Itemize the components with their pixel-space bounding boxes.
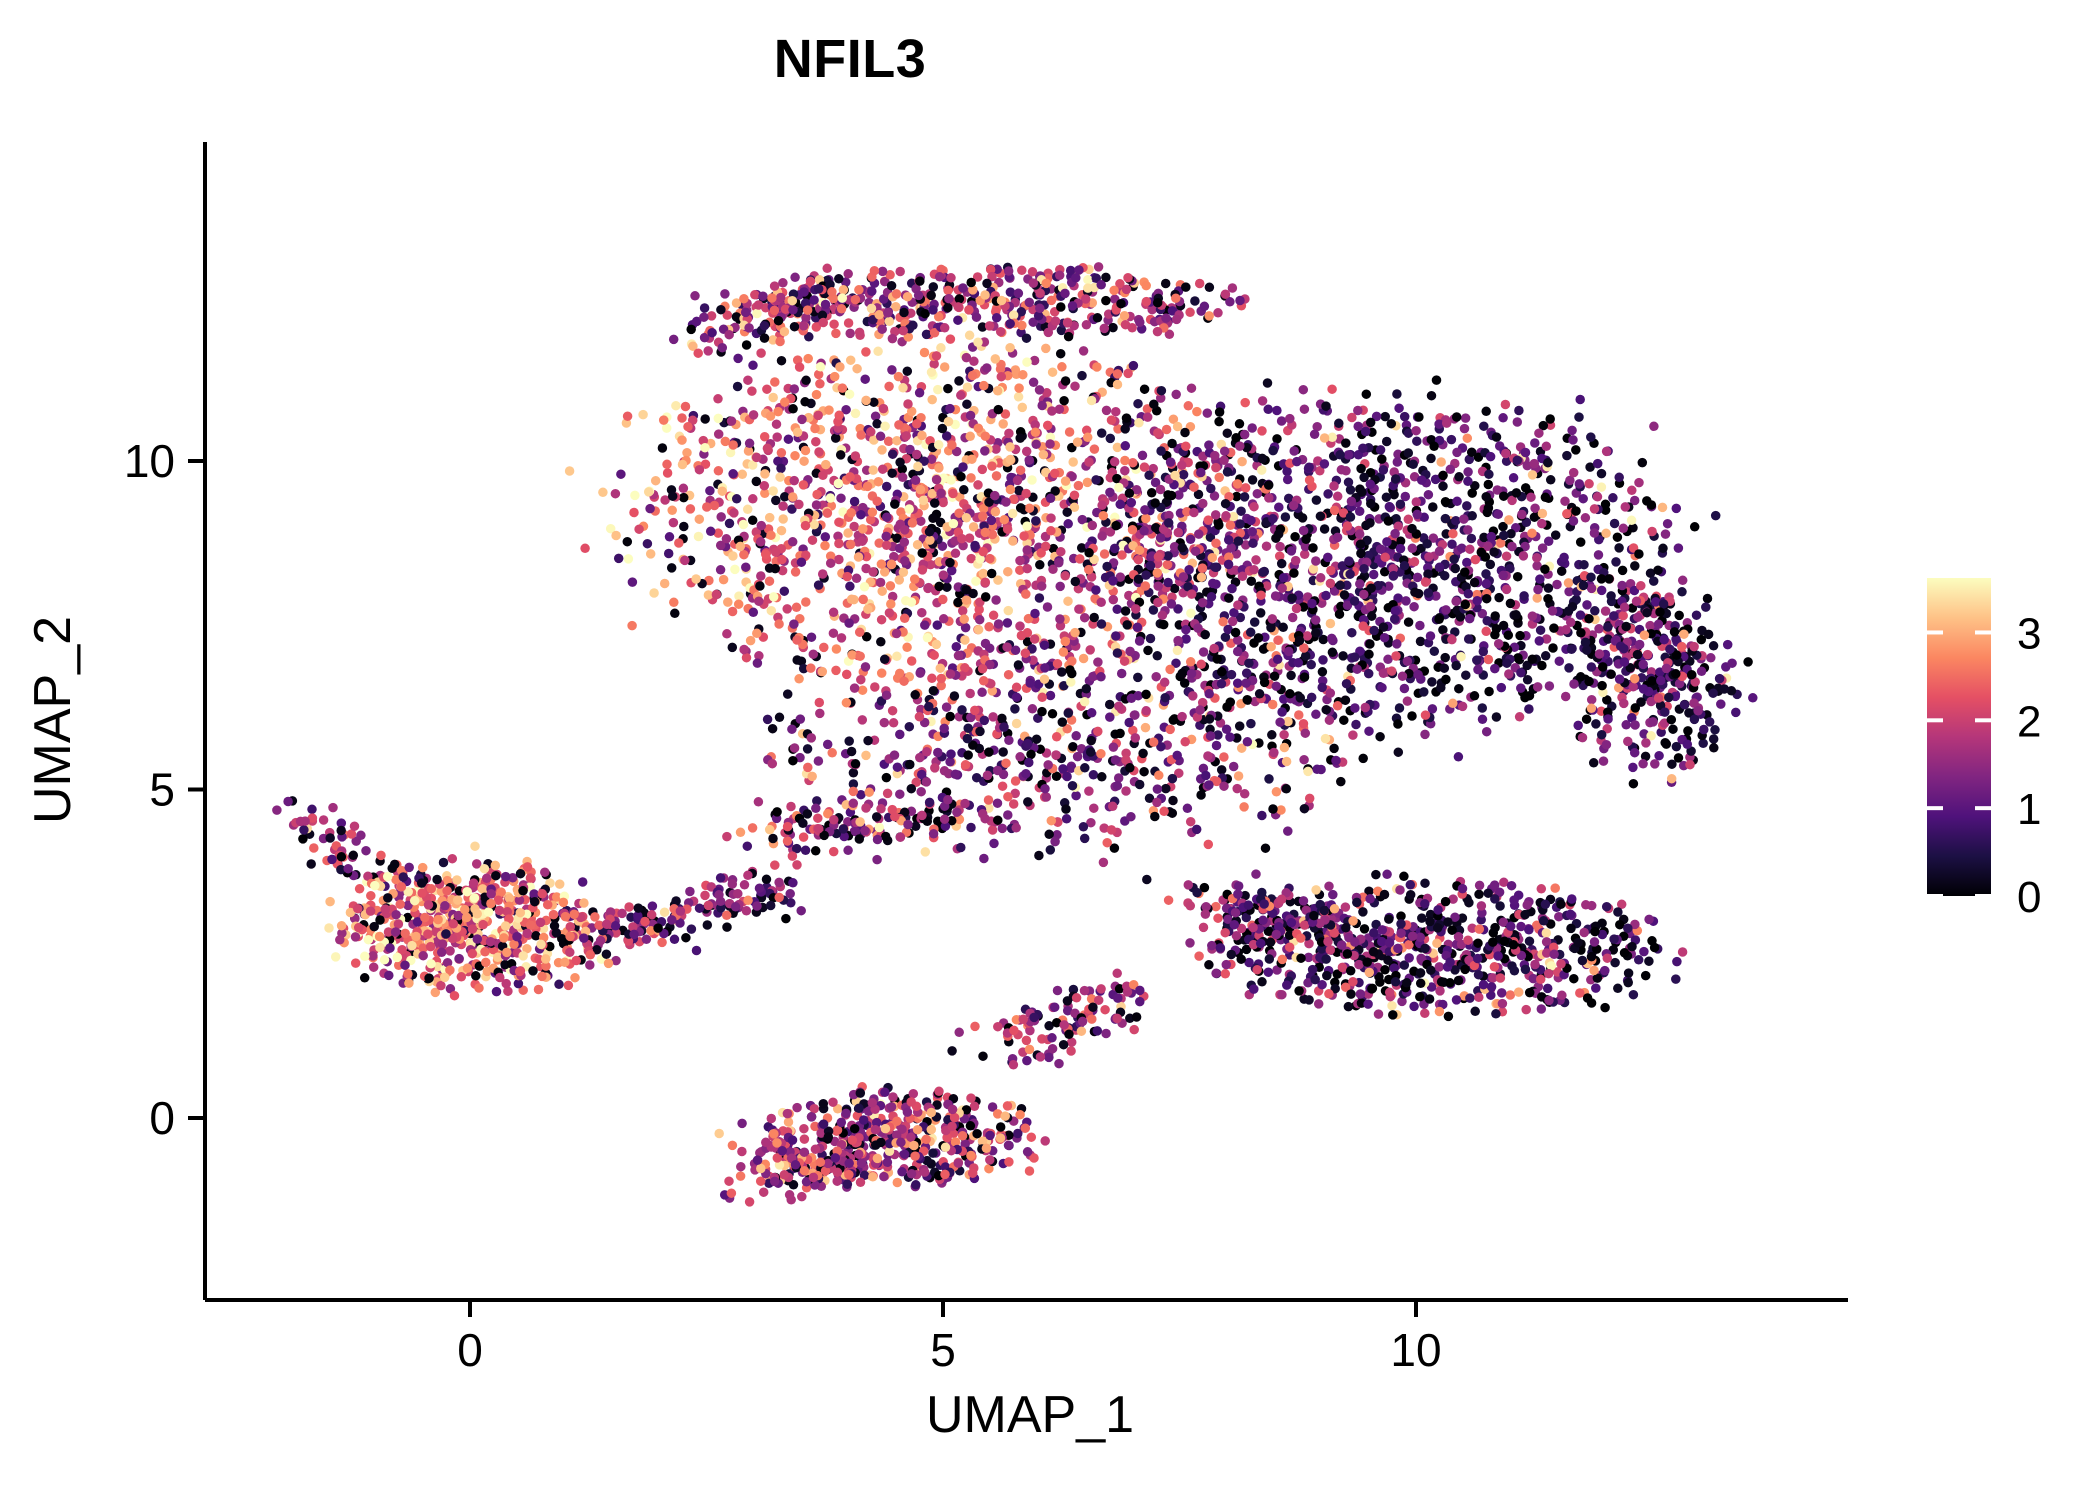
data-point — [775, 472, 785, 482]
data-point — [783, 836, 793, 846]
data-point — [1420, 878, 1430, 888]
data-point — [855, 627, 865, 637]
data-point — [1527, 528, 1537, 538]
data-point — [984, 622, 994, 632]
data-point — [307, 805, 317, 815]
data-point — [695, 465, 705, 475]
data-point — [1181, 625, 1191, 635]
data-point — [555, 879, 565, 889]
data-point — [1043, 602, 1053, 612]
data-point — [1168, 774, 1178, 784]
data-point — [1240, 492, 1250, 502]
data-point — [463, 963, 473, 973]
data-point — [1537, 519, 1547, 529]
data-point — [1010, 704, 1020, 714]
data-point — [1279, 730, 1289, 740]
data-point — [1420, 1009, 1430, 1019]
data-point — [671, 401, 681, 411]
data-point — [1110, 544, 1120, 554]
data-point — [965, 689, 975, 699]
data-point — [1491, 1009, 1501, 1019]
data-point — [839, 824, 849, 834]
data-point — [1369, 570, 1379, 580]
data-point — [1208, 553, 1218, 563]
data-point — [1494, 593, 1504, 603]
data-point — [1210, 562, 1220, 572]
data-point — [1022, 1036, 1032, 1046]
data-point — [1463, 467, 1473, 477]
data-point — [1594, 624, 1604, 634]
data-point — [807, 632, 817, 642]
data-point — [1487, 532, 1497, 542]
data-point — [1709, 641, 1719, 651]
data-point — [1360, 924, 1370, 934]
umap-feature-plot: NFIL3 0510 0510 UMAP_1 UMAP_2 0 — [0, 0, 2100, 1500]
data-point — [629, 508, 639, 518]
data-point — [829, 815, 839, 825]
data-point — [1100, 1005, 1110, 1015]
data-point — [1180, 737, 1190, 747]
data-point — [1057, 362, 1067, 372]
data-point — [439, 858, 449, 868]
data-point — [364, 935, 374, 945]
data-point — [864, 787, 874, 797]
data-point — [816, 362, 826, 372]
data-point — [806, 663, 816, 673]
data-point — [1204, 840, 1214, 850]
data-point — [958, 606, 968, 616]
data-point — [1221, 289, 1231, 299]
data-point — [1569, 974, 1579, 984]
data-point — [351, 932, 361, 942]
data-point — [1030, 609, 1040, 619]
data-point — [1474, 993, 1484, 1003]
data-point — [955, 294, 965, 304]
data-point — [1246, 516, 1256, 526]
data-point — [538, 889, 548, 899]
data-point — [1274, 502, 1284, 512]
data-point — [1586, 432, 1596, 442]
data-point — [1089, 770, 1099, 780]
data-point — [728, 607, 738, 617]
data-point — [849, 787, 859, 797]
data-point — [1627, 486, 1637, 496]
data-point — [1112, 969, 1122, 979]
data-point — [1257, 811, 1267, 821]
data-point — [1235, 419, 1245, 429]
data-point — [482, 874, 492, 884]
data-point — [1035, 560, 1045, 570]
data-point — [1574, 412, 1584, 422]
data-point — [1079, 654, 1089, 664]
data-point — [762, 384, 772, 394]
data-point — [1135, 780, 1145, 790]
data-point — [1337, 465, 1347, 475]
data-point — [1516, 683, 1526, 693]
data-point — [1167, 439, 1177, 449]
data-point — [1484, 470, 1494, 480]
data-point — [1186, 657, 1196, 667]
data-point — [902, 643, 912, 653]
data-point — [829, 319, 839, 329]
data-point — [923, 633, 933, 643]
data-point — [686, 504, 696, 514]
data-point — [436, 981, 446, 991]
data-point — [884, 437, 894, 447]
data-point — [1415, 621, 1425, 631]
data-point — [1347, 628, 1357, 638]
data-point — [959, 485, 969, 495]
data-point — [1672, 957, 1682, 967]
data-point — [832, 644, 842, 654]
data-point — [827, 748, 837, 758]
data-point — [1537, 884, 1547, 894]
data-point — [1087, 1014, 1097, 1024]
data-point — [811, 437, 821, 447]
data-point — [1556, 900, 1566, 910]
data-point — [1150, 812, 1160, 822]
data-point — [1037, 693, 1047, 703]
data-point — [1184, 880, 1194, 890]
data-point — [786, 802, 796, 812]
data-point — [1211, 510, 1221, 520]
data-point — [1080, 697, 1090, 707]
data-point — [1100, 549, 1110, 559]
data-point — [1097, 619, 1107, 629]
data-point — [1237, 457, 1247, 467]
data-point — [1613, 984, 1623, 994]
data-point — [844, 1159, 854, 1169]
data-point — [1382, 537, 1392, 547]
data-point — [1157, 386, 1167, 396]
data-point — [1365, 639, 1375, 649]
data-point — [882, 773, 892, 783]
data-point — [1107, 825, 1117, 835]
data-point — [843, 269, 853, 279]
data-point — [1022, 1056, 1032, 1066]
data-point — [1003, 524, 1013, 534]
data-point — [643, 539, 653, 549]
data-point — [733, 382, 743, 392]
data-point — [1311, 615, 1321, 625]
data-point — [970, 1102, 980, 1112]
data-point — [537, 972, 547, 982]
data-point — [1589, 758, 1599, 768]
data-point — [1195, 279, 1205, 289]
data-point — [991, 595, 1001, 605]
data-point — [821, 532, 831, 542]
data-point — [1235, 519, 1245, 529]
data-point — [1629, 990, 1639, 1000]
data-point — [356, 831, 366, 841]
data-point — [1280, 743, 1290, 753]
data-point — [1540, 565, 1550, 575]
data-point — [1201, 909, 1211, 919]
data-point — [1569, 468, 1579, 478]
data-point — [669, 598, 679, 608]
data-point — [1583, 993, 1593, 1003]
data-point — [1362, 389, 1372, 399]
data-point — [1464, 589, 1474, 599]
data-point — [790, 451, 800, 461]
data-point — [614, 554, 624, 564]
data-point — [1093, 313, 1103, 323]
data-point — [611, 489, 621, 499]
data-point — [1506, 990, 1516, 1000]
data-point — [1678, 947, 1688, 957]
data-point — [1317, 683, 1327, 693]
data-point — [1190, 296, 1200, 306]
data-point — [491, 861, 501, 871]
data-point — [800, 1147, 810, 1157]
data-point — [972, 773, 982, 783]
data-point — [1475, 881, 1485, 891]
data-point — [777, 356, 787, 366]
data-point — [998, 419, 1008, 429]
data-point — [1277, 559, 1287, 569]
data-point — [1535, 636, 1545, 646]
data-point — [811, 804, 821, 814]
data-point — [897, 1167, 907, 1177]
data-point — [1165, 725, 1175, 735]
data-point — [1198, 499, 1208, 509]
data-point — [1111, 407, 1121, 417]
data-point — [470, 841, 480, 851]
data-point — [994, 405, 1004, 415]
data-point — [1204, 960, 1214, 970]
data-point — [1030, 634, 1040, 644]
data-point — [1412, 497, 1422, 507]
data-point — [1543, 594, 1553, 604]
data-point — [1399, 872, 1409, 882]
data-point — [1487, 982, 1497, 992]
data-point — [1538, 543, 1548, 553]
data-point — [1240, 430, 1250, 440]
data-point — [772, 419, 782, 429]
data-point — [1677, 642, 1687, 652]
data-point — [1163, 551, 1173, 561]
data-point — [1204, 689, 1214, 699]
data-point — [1482, 616, 1492, 626]
data-point — [978, 1051, 988, 1061]
data-point — [1032, 734, 1042, 744]
data-point — [1521, 483, 1531, 493]
data-point — [1141, 706, 1151, 716]
data-point — [554, 980, 564, 990]
data-point — [1082, 684, 1092, 694]
data-point — [849, 768, 859, 778]
data-point — [1678, 576, 1688, 586]
data-point — [1053, 986, 1063, 996]
data-point — [795, 362, 805, 372]
data-point — [1318, 655, 1328, 665]
data-point — [794, 500, 804, 510]
data-point — [1619, 699, 1629, 709]
data-point — [1566, 910, 1576, 920]
data-point — [1369, 947, 1379, 957]
data-point — [873, 347, 883, 357]
data-point — [1199, 647, 1209, 657]
data-point — [1519, 591, 1529, 601]
data-point — [792, 1103, 802, 1113]
data-point — [1333, 701, 1343, 711]
data-point — [1046, 691, 1056, 701]
data-point — [714, 414, 724, 424]
data-point — [1222, 960, 1232, 970]
data-point — [960, 663, 970, 673]
data-point — [1113, 648, 1123, 658]
data-point — [1662, 739, 1672, 749]
data-point — [946, 749, 956, 759]
data-point — [1186, 608, 1196, 618]
data-point — [982, 279, 992, 289]
data-point — [1048, 367, 1058, 377]
data-point — [714, 429, 724, 439]
data-point — [1080, 613, 1090, 623]
data-point — [369, 962, 379, 972]
data-point — [728, 551, 738, 561]
data-point — [1731, 708, 1741, 718]
data-point — [1401, 596, 1411, 606]
data-point — [1341, 695, 1351, 705]
data-point — [914, 291, 924, 301]
data-point — [1490, 630, 1500, 640]
data-point — [1562, 509, 1572, 519]
data-point — [1365, 894, 1375, 904]
data-point — [1578, 494, 1588, 504]
data-point — [1396, 499, 1406, 509]
data-point — [1364, 650, 1374, 660]
data-point — [299, 825, 309, 835]
data-point — [872, 496, 882, 506]
data-point — [879, 404, 889, 414]
data-point — [1022, 521, 1032, 531]
data-point — [1027, 475, 1037, 485]
data-point — [722, 629, 732, 639]
data-point — [799, 287, 809, 297]
data-point — [888, 706, 898, 716]
data-point — [1234, 771, 1244, 781]
data-point — [1003, 810, 1013, 820]
data-point — [580, 544, 590, 554]
data-point — [667, 563, 677, 573]
data-point — [909, 1089, 919, 1099]
data-point — [1461, 670, 1471, 680]
data-point — [844, 318, 854, 328]
data-point — [737, 1147, 747, 1157]
data-point — [849, 799, 859, 809]
data-point — [1057, 667, 1067, 677]
data-point — [963, 723, 973, 733]
data-point — [845, 389, 855, 399]
data-point — [1603, 953, 1613, 963]
data-point — [1426, 454, 1436, 464]
data-point — [1016, 465, 1026, 475]
data-point — [664, 549, 674, 559]
data-point — [1623, 737, 1633, 747]
data-point — [376, 851, 386, 861]
data-point — [1368, 984, 1378, 994]
data-point — [543, 900, 553, 910]
data-point — [360, 952, 370, 962]
data-point — [1022, 447, 1032, 457]
data-point — [956, 472, 966, 482]
data-point — [768, 759, 778, 769]
data-point — [1004, 606, 1014, 616]
data-point — [1257, 977, 1267, 987]
data-point — [1446, 465, 1456, 475]
data-point — [1404, 448, 1414, 458]
data-point — [1061, 804, 1071, 814]
data-point — [1395, 703, 1405, 713]
data-point — [826, 558, 836, 568]
data-point — [1311, 710, 1321, 720]
data-point — [298, 834, 308, 844]
data-point — [1258, 568, 1268, 578]
data-point — [1152, 798, 1162, 808]
data-point — [774, 619, 784, 629]
data-point — [925, 798, 935, 808]
data-point — [384, 971, 394, 981]
data-point — [1448, 699, 1458, 709]
data-point — [1261, 843, 1271, 853]
data-point — [975, 727, 985, 737]
data-point — [1447, 435, 1457, 445]
data-point — [1492, 712, 1502, 722]
data-point — [1663, 519, 1673, 529]
data-point — [760, 469, 770, 479]
data-point — [1542, 442, 1552, 452]
data-point — [1644, 915, 1654, 925]
data-point — [768, 393, 778, 403]
data-point — [623, 537, 633, 547]
data-point — [1246, 719, 1256, 729]
data-point — [1448, 529, 1458, 539]
data-point — [1614, 543, 1624, 553]
data-point — [420, 913, 430, 923]
data-point — [1322, 971, 1332, 981]
data-point — [1451, 564, 1461, 574]
data-point — [1135, 997, 1145, 1007]
data-point — [1249, 502, 1259, 512]
data-point — [1079, 346, 1089, 356]
data-point — [1416, 979, 1426, 989]
data-point — [1658, 503, 1668, 513]
data-point — [1153, 598, 1163, 608]
data-point — [424, 973, 434, 983]
data-point — [578, 877, 588, 887]
data-point — [1609, 611, 1619, 621]
data-point — [893, 1178, 903, 1188]
data-point — [1117, 669, 1127, 679]
data-point — [1025, 1045, 1035, 1055]
data-point — [930, 763, 940, 773]
data-point — [531, 931, 541, 941]
data-point — [878, 267, 888, 277]
data-point — [1356, 464, 1366, 474]
data-point — [972, 312, 982, 322]
data-point — [1194, 951, 1204, 961]
data-point — [1158, 610, 1168, 620]
data-point — [814, 580, 824, 590]
data-point — [1028, 704, 1038, 714]
data-point — [1144, 471, 1154, 481]
data-point — [351, 958, 361, 968]
data-point — [994, 619, 1004, 629]
data-point — [1143, 412, 1153, 422]
data-point — [1159, 620, 1169, 630]
data-point — [1071, 731, 1081, 741]
